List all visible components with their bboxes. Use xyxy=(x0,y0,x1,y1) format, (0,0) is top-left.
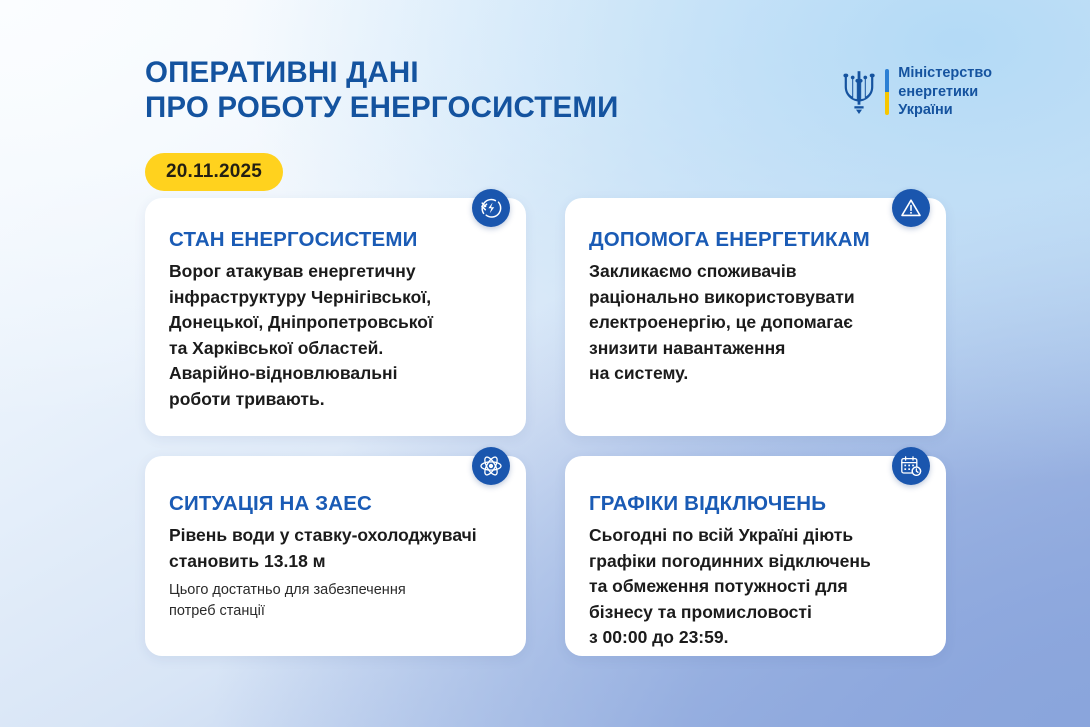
atom-icon xyxy=(472,447,510,485)
ministry-name: Міністерство енергетики України xyxy=(898,64,992,120)
plug-lightning-icon xyxy=(472,189,510,227)
date-badge: 20.11.2025 xyxy=(145,153,283,191)
card-body: ГРАФІКИ ВІДКЛЮЧЕНЬ Сьогодні по всій Укра… xyxy=(565,456,946,651)
card-body: СИТУАЦІЯ НА ЗАЕС Рівень води у ставку-ох… xyxy=(145,456,526,622)
card-text: Ворог атакував енергетичну інфраструктур… xyxy=(169,259,502,412)
card-dopomoha-enerhetykam: ДОПОМОГА ЕНЕРГЕТИКАМ Закликаємо споживач… xyxy=(565,198,946,436)
card-stan-enerhosystemy: СТАН ЕНЕРГОСИСТЕМИ Ворог атакував енерге… xyxy=(145,198,526,436)
card-heading: СТАН ЕНЕРГОСИСТЕМИ xyxy=(169,228,502,252)
card-heading: ДОПОМОГА ЕНЕРГЕТИКАМ xyxy=(589,228,922,252)
ukraine-trident-icon xyxy=(842,69,876,115)
card-heading: ГРАФІКИ ВІДКЛЮЧЕНЬ xyxy=(589,492,922,516)
warning-triangle-icon xyxy=(892,189,930,227)
card-body: СТАН ЕНЕРГОСИСТЕМИ Ворог атакував енерге… xyxy=(145,198,526,412)
infographic-poster: ОПЕРАТИВНІ ДАНІ ПРО РОБОТУ ЕНЕРГОСИСТЕМИ… xyxy=(0,0,1090,727)
card-hrafiky-vidkliuchen: ГРАФІКИ ВІДКЛЮЧЕНЬ Сьогодні по всій Укра… xyxy=(565,456,946,656)
card-sytuatsiia-na-zaes: СИТУАЦІЯ НА ЗАЕС Рівень води у ставку-ох… xyxy=(145,456,526,656)
card-text: Сьогодні по всій Україні діють графіки п… xyxy=(589,523,922,651)
card-text: Закликаємо споживачів раціонально викори… xyxy=(589,259,922,387)
card-subtext: Цього достатньо для забезпечення потреб … xyxy=(169,580,502,622)
card-body: ДОПОМОГА ЕНЕРГЕТИКАМ Закликаємо споживач… xyxy=(565,198,946,387)
card-heading: СИТУАЦІЯ НА ЗАЕС xyxy=(169,492,502,516)
calendar-clock-icon xyxy=(892,447,930,485)
ministry-logo: Міністерство енергетики України xyxy=(842,64,992,120)
card-text: Рівень води у ставку-охолоджувачі станов… xyxy=(169,523,502,574)
logo-divider-bar xyxy=(885,69,889,115)
